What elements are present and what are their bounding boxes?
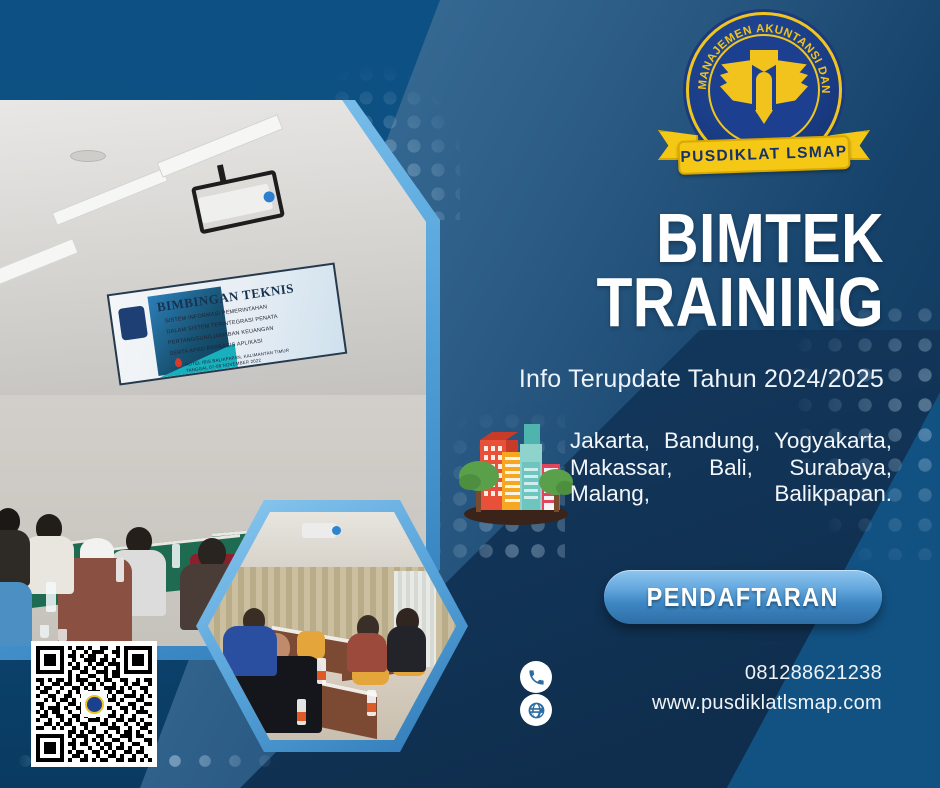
logo-ribbon-text: PUSDIKLAT LSMAP	[677, 135, 850, 175]
subheadline: Info Terupdate Tahun 2024/2025	[414, 365, 884, 394]
logo-ribbon: PUSDIKLAT LSMAP	[658, 126, 870, 186]
city-buildings-icon	[458, 414, 574, 526]
qr-center-logo	[81, 691, 107, 717]
garuda-emblem-icon	[722, 46, 806, 130]
contact-website[interactable]: www.pusdiklatlsmap.com	[462, 688, 882, 718]
hex-meeting-photo	[196, 500, 468, 752]
qr-code[interactable]	[31, 641, 157, 767]
pusdiklat-lsmap-logo: LEMBAGA STUDI MANAJEMEN AKUNTANSI DAN PE…	[650, 8, 878, 188]
pendaftaran-button[interactable]: PENDAFTARAN	[604, 570, 882, 624]
contact-info: 081288621238 www.pusdiklatlsmap.com	[462, 658, 882, 718]
qr-code-pattern	[36, 646, 152, 762]
poster-canvas: BIMBINGAN TEKNIS SISTEM INFORMASI PEMERI…	[0, 0, 940, 788]
contact-phone[interactable]: 081288621238	[462, 658, 882, 688]
headline-line-2: TRAINING	[489, 270, 884, 334]
cities-list: Jakarta, Bandung, Yogyakarta, Makassar, …	[570, 428, 892, 508]
pendaftaran-button-label: PENDAFTARAN	[647, 582, 839, 613]
headline-line-1: BIMTEK	[489, 206, 884, 270]
page-title: BIMTEK TRAINING	[414, 206, 884, 335]
